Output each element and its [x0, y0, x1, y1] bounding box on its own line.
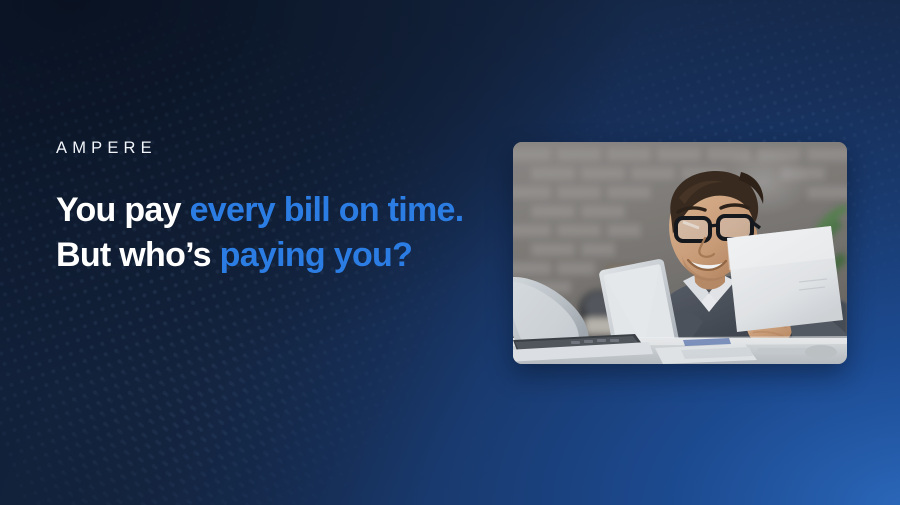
hero-photo: [513, 142, 847, 364]
brand-logo: AMPERE: [56, 140, 496, 157]
copy-block: AMPERE You pay every bill on time. But w…: [56, 140, 496, 278]
hero-photo-illustration: [513, 142, 847, 364]
headline-line-2-plain: But who’s: [56, 236, 220, 274]
headline-line-2: But who’s paying you?: [56, 233, 496, 278]
marketing-banner: AMPERE You pay every bill on time. But w…: [0, 0, 900, 505]
headline-line-1: You pay every bill on time.: [56, 188, 496, 233]
headline-line-1-accent: every bill on time.: [190, 191, 464, 229]
headline-line-1-plain: You pay: [56, 191, 190, 229]
headline-line-2-accent: paying you?: [220, 236, 413, 274]
